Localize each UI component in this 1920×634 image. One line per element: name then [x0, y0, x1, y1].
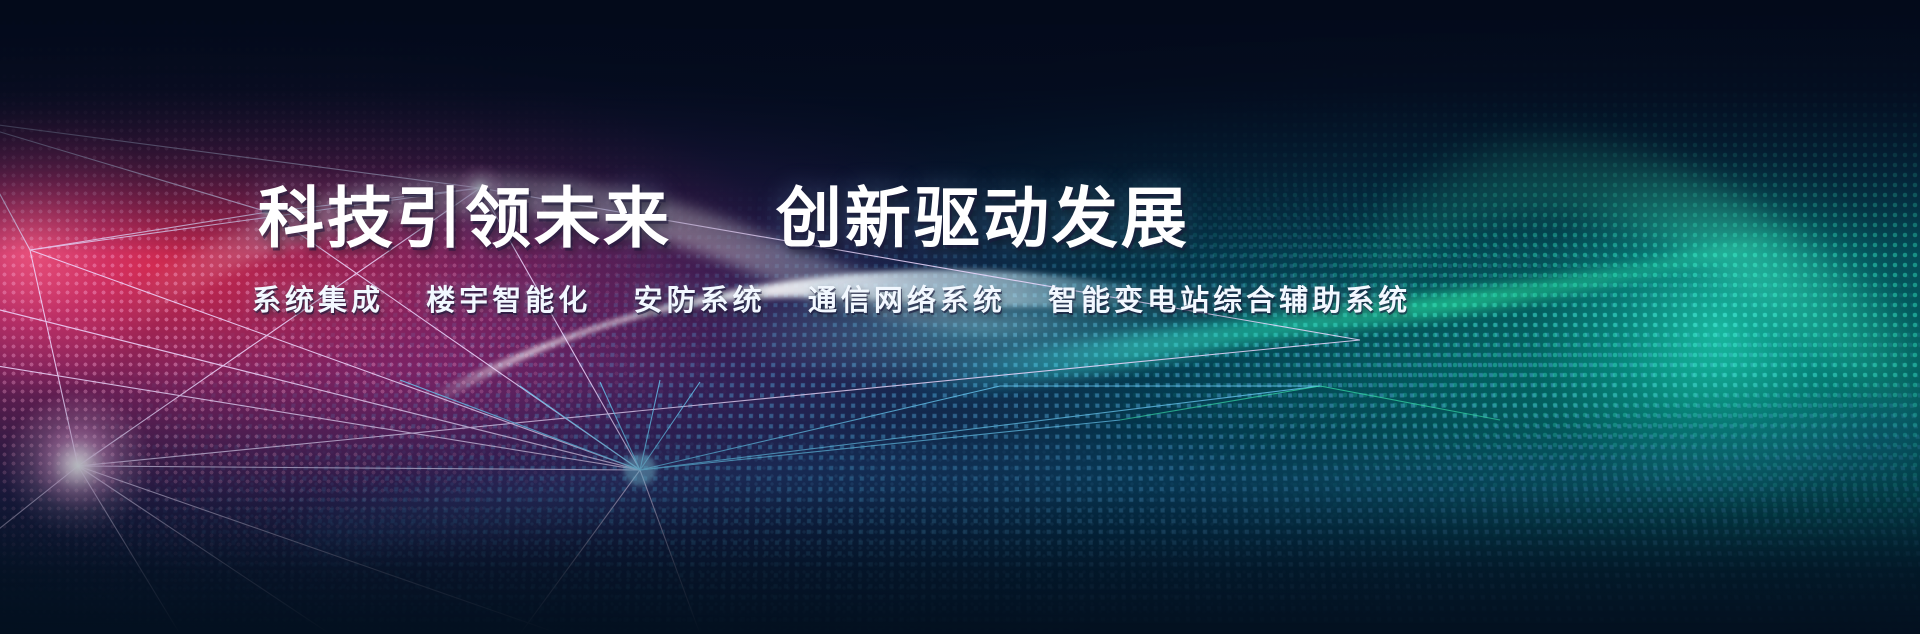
banner-text-block: 科技引领未来 创新驱动发展 系统集成 楼宇智能化 安防系统 通信网络系统 智能变… [0, 0, 1920, 634]
hero-banner: 科技引领未来 创新驱动发展 系统集成 楼宇智能化 安防系统 通信网络系统 智能变… [0, 0, 1920, 634]
banner-headline: 科技引领未来 创新驱动发展 [258, 186, 1190, 252]
banner-subline: 系统集成 楼宇智能化 安防系统 通信网络系统 智能变电站综合辅助系统 [252, 286, 1411, 315]
